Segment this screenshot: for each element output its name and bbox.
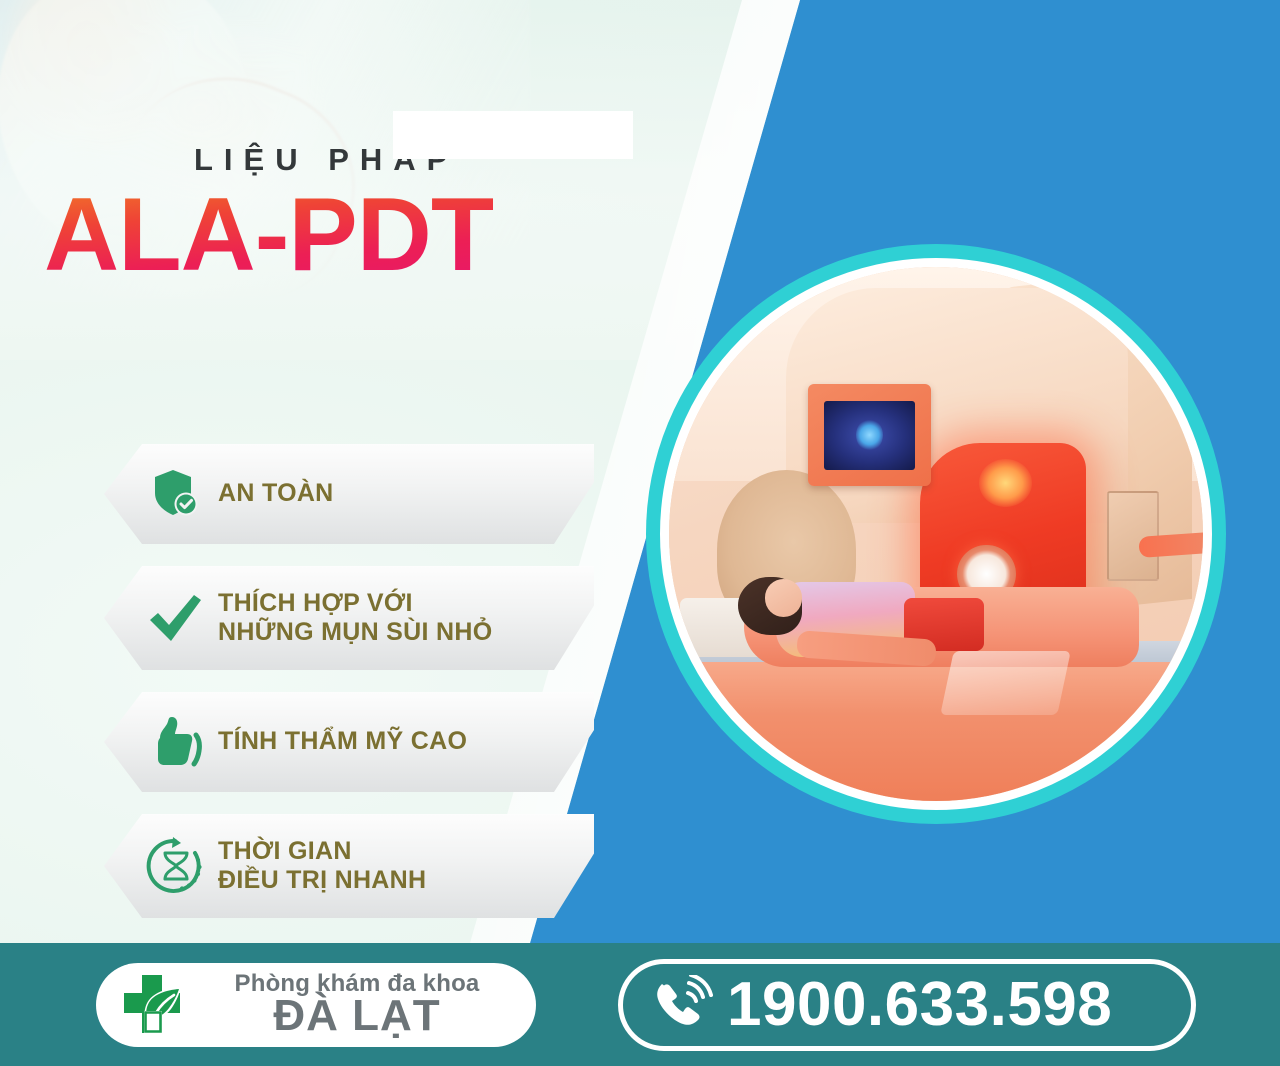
blank-white-box <box>393 111 633 159</box>
footer-bar: Phòng khám đa khoa ĐÀ LẠT 1900.633.598 <box>0 943 1280 1066</box>
promo-poster: LIỆU PHÁP ALA-PDT AN TOÀN <box>0 0 1280 1066</box>
green-cross-leaf-icon <box>112 969 196 1041</box>
feature-badge-an-toan[interactable]: AN TOÀN <box>104 444 594 544</box>
clinic-name-block: Phòng khám đa khoa ĐÀ LẠT <box>202 971 536 1039</box>
photo-cyan-ring <box>646 244 1226 824</box>
headline-block: LIỆU PHÁP ALA-PDT <box>44 144 684 293</box>
phone-cta-pill[interactable]: 1900.633.598 <box>618 959 1196 1051</box>
headline-brand: ALA-PDT <box>44 183 493 287</box>
phone-ringing-icon <box>641 970 723 1040</box>
treatment-photo <box>660 258 1212 810</box>
feature-badge-label: THÍCH HỢP VỚI NHỮNG MỤN SÙI NHỎ <box>218 589 492 648</box>
hourglass-clock-icon <box>138 829 212 903</box>
feature-badge-label: TÍNH THẨM MỸ CAO <box>218 727 467 757</box>
phone-number: 1900.633.598 <box>727 974 1112 1036</box>
clinic-title: ĐÀ LẠT <box>202 994 512 1039</box>
feature-badge-tham-my[interactable]: TÍNH THẨM MỸ CAO <box>104 692 594 792</box>
thumbs-up-icon <box>138 705 212 779</box>
headline-title-row: ALA-PDT <box>44 183 684 293</box>
shield-check-icon <box>138 457 212 531</box>
feature-badge-list: AN TOÀN THÍCH HỢP VỚI NHỮNG MỤN SÙI NHỎ <box>104 444 594 940</box>
feature-badge-label: THỜI GIAN ĐIỀU TRỊ NHANH <box>218 837 426 896</box>
check-mark-icon <box>138 581 212 655</box>
feature-badge-thich-hop[interactable]: THÍCH HỢP VỚI NHỮNG MỤN SÙI NHỎ <box>104 566 594 670</box>
clinic-brand-pill[interactable]: Phòng khám đa khoa ĐÀ LẠT <box>96 963 536 1047</box>
feature-badge-label: AN TOÀN <box>218 479 334 509</box>
feature-badge-thoi-gian[interactable]: THỜI GIAN ĐIỀU TRỊ NHANH <box>104 814 594 918</box>
